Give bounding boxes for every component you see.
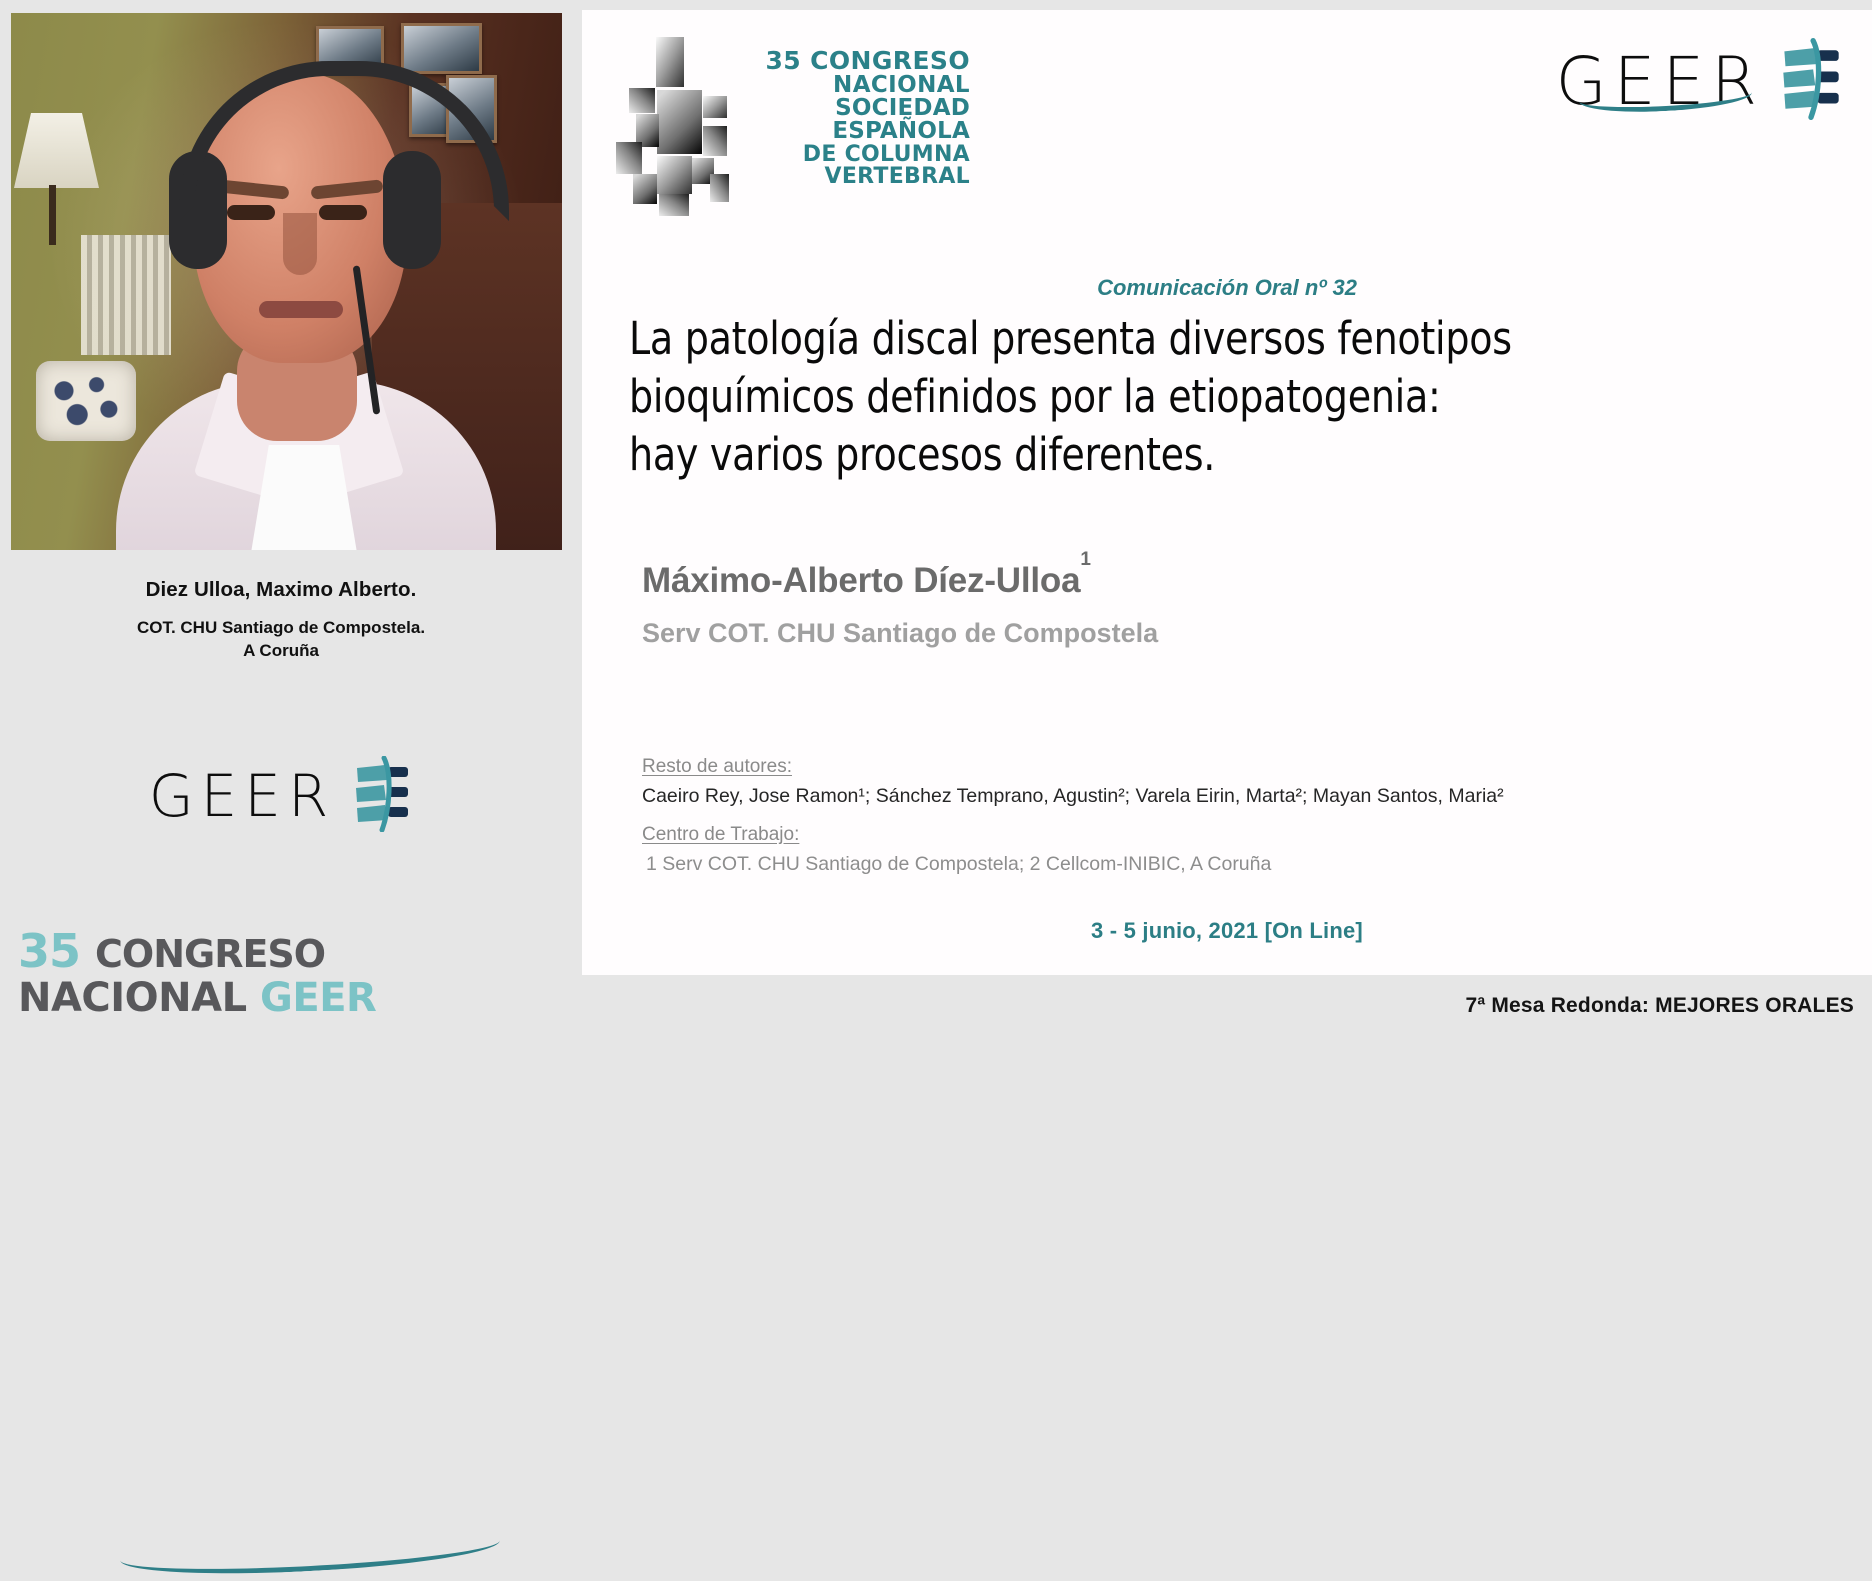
main-author-name: Máximo-Alberto Díez-Ulloa <box>642 561 1080 600</box>
background-lamp-stem <box>49 185 56 245</box>
work-center-label: Centro de Trabajo: <box>642 824 799 846</box>
speaker-mouth <box>259 301 343 318</box>
presentation-slide[interactable]: 35 CONGRESO NACIONAL SOCIEDAD ESPAÑOLA D… <box>582 10 1872 975</box>
congress-logo-line5: VERTEBRAL <box>690 166 970 188</box>
congress-logo-line3: SOCIEDAD ESPAÑOLA <box>690 97 970 144</box>
sidebar-congress-number: 35 <box>18 924 80 978</box>
congress-logo-line1: 35 CONGRESO <box>690 48 970 74</box>
event-date: 3 - 5 junio, 2021 [On Line] <box>582 918 1872 944</box>
slide-title-line1: La patología discal presenta diversos fe… <box>629 310 1785 368</box>
geer-swoosh-icon <box>119 1520 501 1581</box>
slide-geer-logo: GEER <box>1556 38 1844 125</box>
sidebar-congress-word1: CONGRESO <box>95 932 325 976</box>
slide-title-line3: hay varios procesos diferentes. <box>629 426 1785 484</box>
other-authors-label: Resto de autores: <box>642 756 792 778</box>
speaker-video-tile[interactable] <box>11 13 562 550</box>
sidebar-geer-logo: GEER <box>0 736 562 856</box>
speaker-affiliation-line1: COT. CHU Santiago de Compostela. <box>137 618 425 637</box>
sidebar-congress-word3: GEER <box>260 975 376 1021</box>
sidebar-congress-line1: 35 CONGRESO <box>18 928 448 974</box>
slide-title: La patología discal presenta diversos fe… <box>629 310 1785 484</box>
speaker-panel: Diez Ulloa, Maximo Alberto. COT. CHU San… <box>0 0 562 1040</box>
main-author: Máximo-Alberto Díez-Ulloa1 <box>642 561 1091 601</box>
sidebar-congress-logo: 35 CONGRESO NACIONAL GEER <box>18 928 448 1018</box>
spine-icon <box>351 756 413 837</box>
slide-title-line2: bioquímicos definidos por la etiopatogen… <box>629 368 1785 426</box>
communication-number: Comunicación Oral nº 32 <box>582 275 1872 301</box>
background-radiator <box>81 235 171 355</box>
work-center-list: 1 Serv COT. CHU Santiago de Compostela; … <box>646 853 1271 876</box>
other-authors-list: Caeiro Rey, Jose Ramon¹; Sánchez Tempran… <box>642 785 1504 808</box>
spine-icon <box>1778 38 1844 125</box>
sidebar-geer-wordmark: GEER <box>149 762 336 830</box>
speaker-affiliation-line2: A Coruña <box>243 641 319 660</box>
session-footer: 7ª Mesa Redonda: MEJORES ORALES <box>1465 994 1854 1018</box>
sidebar-congress-word2: NACIONAL <box>18 975 247 1021</box>
congress-logo-text: 35 CONGRESO NACIONAL SOCIEDAD ESPAÑOLA D… <box>690 48 970 189</box>
congress-logo-line2: NACIONAL <box>690 74 970 97</box>
speaker-affiliation: COT. CHU Santiago de Compostela. A Coruñ… <box>0 616 562 663</box>
wall-picture-frame <box>401 23 482 74</box>
sidebar-congress-line2: NACIONAL GEER <box>18 978 448 1018</box>
background-cushion <box>36 361 136 441</box>
speaker-name: Diez Ulloa, Maximo Alberto. <box>0 578 562 602</box>
main-author-affiliation-marker: 1 <box>1080 549 1090 570</box>
congress-logo: 35 CONGRESO NACIONAL SOCIEDAD ESPAÑOLA D… <box>604 28 964 218</box>
congress-logo-line4: DE COLUMNA <box>690 144 970 166</box>
speaker-nose <box>283 213 317 275</box>
main-affiliation: Serv COT. CHU Santiago de Compostela <box>642 618 1158 649</box>
